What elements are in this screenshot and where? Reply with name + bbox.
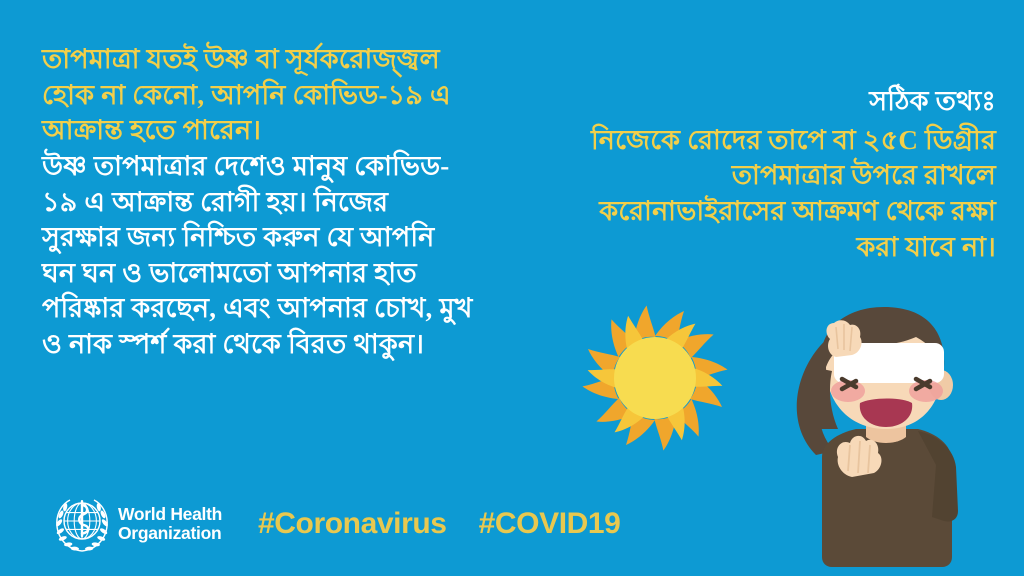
who-name-line-1: World Health xyxy=(118,505,222,524)
who-emblem-icon xyxy=(52,494,112,554)
footer: World Health Organization #Coronavirus #… xyxy=(52,494,620,554)
sun-illustration xyxy=(580,303,730,453)
myth-line: আক্রান্ত হতে পারেন। xyxy=(28,113,528,149)
who-name-line-2: Organization xyxy=(118,524,222,543)
fact-heading: সঠিক তথ্যঃ xyxy=(526,84,996,120)
body-line: পরিষ্কার করছেন, এবং আপনার চোখ, মুখ xyxy=(28,291,528,327)
fact-line: নিজেকে রোদের তাপে বা ২৫C ডিগ্রীর xyxy=(526,123,996,159)
who-logo: World Health Organization xyxy=(52,494,222,554)
hashtag-covid19[interactable]: #COVID19 xyxy=(479,507,621,541)
fact-line: তাপমাত্রার উপরে রাখলে xyxy=(526,158,996,194)
body-line: ১৯ এ আক্রান্ত রোগী হয়। নিজের xyxy=(28,185,528,221)
hashtag-coronavirus[interactable]: #Coronavirus xyxy=(258,507,447,541)
hashtags: #Coronavirus #COVID19 xyxy=(258,507,620,541)
sun-core xyxy=(614,337,696,419)
fact-line: করা যাবে না। xyxy=(526,230,996,266)
rod-of-asclepius-icon xyxy=(79,500,88,537)
body-line: উষ্ণ তাপমাত্রার দেশেও মানুষ কোভিড- xyxy=(28,149,528,185)
myth-line: তাপমাত্রা যতই উষ্ণ বা সূর্যকরোজ্জ্বল xyxy=(28,42,528,78)
body-line: ও নাক স্পর্শ করা থেকে বিরত থাকুন। xyxy=(28,327,528,363)
body-line: সুরক্ষার জন্য নিশ্চিত করুন যে আপনি xyxy=(28,220,528,256)
fact-line: করোনাভাইরাসের আক্রমণ থেকে রক্ষা xyxy=(526,194,996,230)
who-name: World Health Organization xyxy=(118,505,222,542)
who-covid-myth-buster-poster: তাপমাত্রা যতই উষ্ণ বা সূর্যকরোজ্জ্বল হোক… xyxy=(0,0,1024,576)
sick-person-illustration xyxy=(786,305,1024,576)
myth-text-block: তাপমাত্রা যতই উষ্ণ বা সূর্যকরোজ্জ্বল হোক… xyxy=(28,42,528,363)
body-line: ঘন ঘন ও ভালোমতো আপনার হাত xyxy=(28,256,528,292)
myth-line: হোক না কেনো, আপনি কোভিড-১৯ এ xyxy=(28,78,528,114)
fact-text-block: সঠিক তথ্যঃ নিজেকে রোদের তাপে বা ২৫C ডিগ্… xyxy=(526,84,996,265)
